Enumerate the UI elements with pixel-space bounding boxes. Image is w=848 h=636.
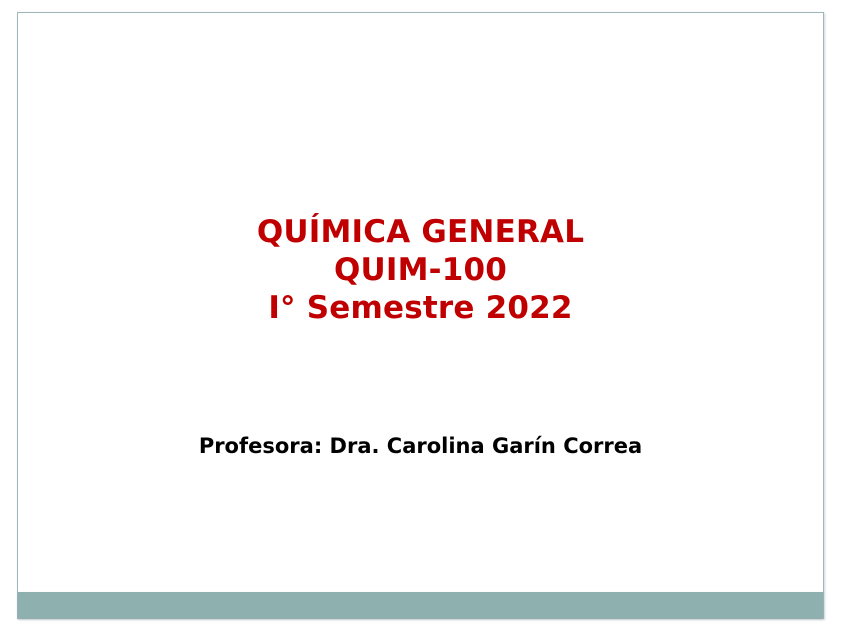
title-line-term: I° Semestre 2022	[18, 289, 823, 327]
title-line-course-name: QUÍMICA GENERAL	[18, 213, 823, 251]
slide-canvas: QUÍMICA GENERAL QUIM-100 I° Semestre 202…	[17, 12, 824, 619]
title-line-course-code: QUIM-100	[18, 251, 823, 289]
footer-accent-bar	[18, 592, 823, 618]
slide-title: QUÍMICA GENERAL QUIM-100 I° Semestre 202…	[18, 213, 823, 327]
subtitle-line-instructor: Profesora: Dra. Carolina Garín Correa	[18, 431, 823, 461]
slide-subtitle: Profesora: Dra. Carolina Garín Correa	[18, 431, 823, 461]
